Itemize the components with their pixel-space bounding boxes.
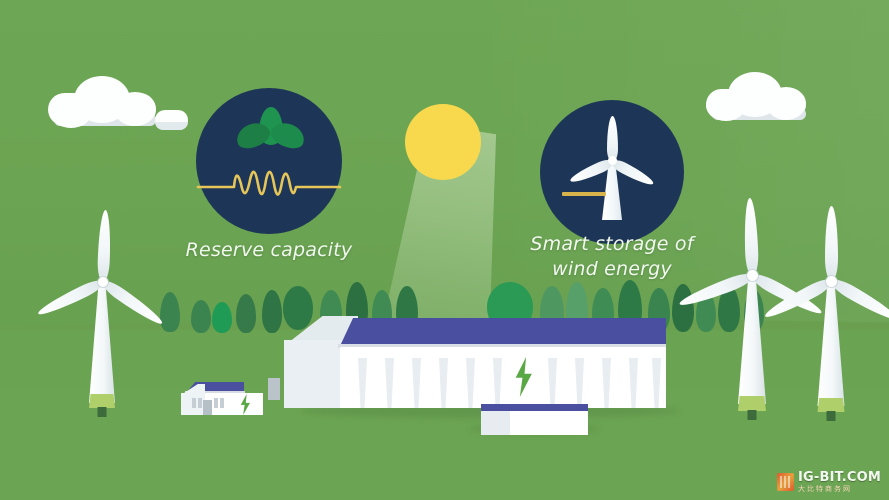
turbine-tower xyxy=(818,278,845,406)
cloud-small-oval xyxy=(155,110,188,130)
turbine-foot xyxy=(827,411,836,421)
watermark-logo-icon xyxy=(777,473,794,491)
watermark-main-text: IG-BIT.COM xyxy=(798,471,881,484)
smart-storage-disc[interactable] xyxy=(540,100,684,244)
cloud-right xyxy=(706,72,806,120)
yellow-bar-icon xyxy=(562,192,606,196)
tree-cone-bright xyxy=(212,302,232,333)
watermark-sub-text: 大比特商务网 xyxy=(798,486,881,493)
turbine-hub xyxy=(98,277,108,287)
sun-icon xyxy=(405,104,481,180)
turbine-foot xyxy=(98,407,107,417)
site-watermark: IG-BIT.COM 大比特商务网 xyxy=(777,471,881,493)
reserve-capacity-disc[interactable] xyxy=(196,88,342,234)
turbine-foot xyxy=(748,410,757,420)
turbine-tower xyxy=(89,279,115,403)
annex-body xyxy=(510,411,588,435)
cloud-left xyxy=(48,76,156,126)
watermark-text: IG-BIT.COM 大比特商务网 xyxy=(798,471,881,493)
facility-side-door xyxy=(268,378,280,400)
wind-turbine-right-b xyxy=(789,252,873,422)
turbine-hub xyxy=(747,270,758,281)
cloud-puff-right xyxy=(766,87,806,120)
cloud-oval-shadow xyxy=(155,122,188,130)
annex-side-wall xyxy=(481,411,510,435)
reserve-capacity-caption: Reserve capacity xyxy=(174,238,364,263)
tree-cone xyxy=(672,284,694,332)
house-window xyxy=(192,398,196,408)
turbine-base xyxy=(89,394,115,408)
smart-storage-caption: Smart storage of wind energy xyxy=(512,232,712,282)
cloud-puff-right xyxy=(114,92,156,126)
wind-turbine-left xyxy=(62,255,142,420)
tree-round xyxy=(283,286,313,330)
house-window xyxy=(214,398,218,408)
disc-turbine-hub xyxy=(608,156,617,165)
tree-cone xyxy=(236,294,256,333)
waveform-svg xyxy=(196,158,342,210)
waveform-icon xyxy=(196,158,342,210)
illustration-scene: Reserve capacity Smart storage of wind e… xyxy=(0,0,889,500)
house-window xyxy=(220,398,224,408)
tree-cone xyxy=(262,290,282,333)
turbine-base xyxy=(818,398,845,412)
turbine-base xyxy=(738,396,766,411)
facility-roof xyxy=(340,318,666,346)
turbine-tower xyxy=(738,272,766,404)
house-window xyxy=(198,398,202,408)
turbine-hub xyxy=(826,276,837,287)
wind-turbine-right-a xyxy=(710,246,794,421)
tree-pine xyxy=(160,292,180,332)
tree-cone xyxy=(191,300,211,333)
annex-roof xyxy=(481,404,588,411)
house-door xyxy=(203,400,212,415)
